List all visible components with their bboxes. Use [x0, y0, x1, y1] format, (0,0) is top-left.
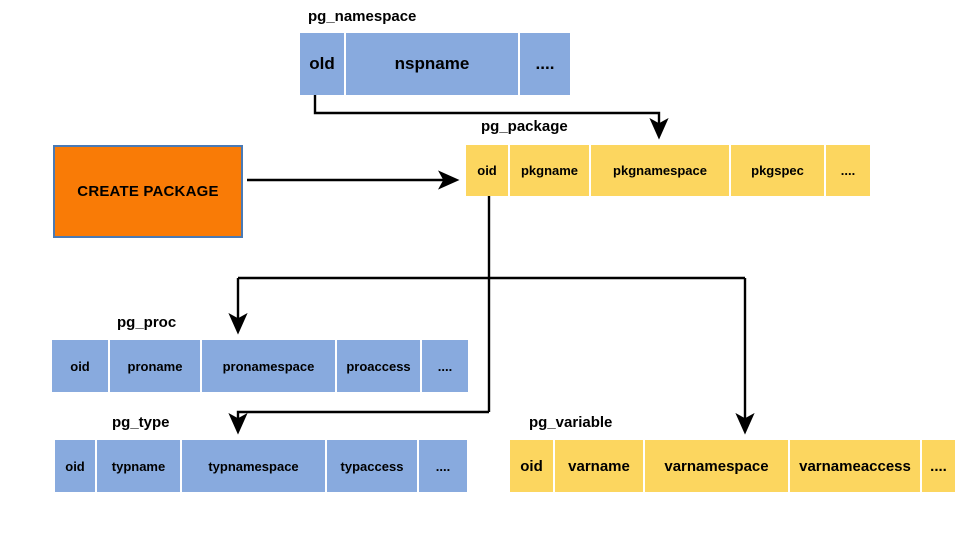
table-label-pg_namespace: pg_namespace	[308, 8, 416, 25]
column-cell-pg_type-dotsdotsdotsdots[interactable]: ....	[419, 440, 467, 492]
column-cell-pg_type-typaccess[interactable]: typaccess	[327, 440, 417, 492]
column-cell-pg_type-typnamespace[interactable]: typnamespace	[182, 440, 325, 492]
table-label-pg_type: pg_type	[112, 414, 170, 431]
column-cell-pg_package-pkgname[interactable]: pkgname	[510, 145, 589, 196]
table-label-pg_variable: pg_variable	[529, 414, 612, 431]
column-cell-pg_package-pkgspec[interactable]: pkgspec	[731, 145, 824, 196]
column-cell-pg_proc-proaccess[interactable]: proaccess	[337, 340, 420, 392]
connector-package-to-type	[238, 412, 489, 431]
column-cell-pg_type-oid[interactable]: oid	[55, 440, 95, 492]
column-cell-pg_namespace-old[interactable]: old	[300, 33, 344, 95]
table-row-pg_type: oidtypnametypnamespacetypaccess....	[55, 440, 467, 492]
diagram-canvas: CREATE PACKAGE pg_namespaceoldnspname...…	[0, 0, 960, 540]
create-package-label: CREATE PACKAGE	[77, 183, 218, 200]
column-cell-pg_package-pkgnamespace[interactable]: pkgnamespace	[591, 145, 729, 196]
column-cell-pg_proc-oid[interactable]: oid	[52, 340, 108, 392]
column-cell-pg_variable-varnameaccess[interactable]: varnameaccess	[790, 440, 920, 492]
table-label-pg_package: pg_package	[481, 118, 568, 135]
table-row-pg_proc: oidpronamepronamespaceproaccess....	[52, 340, 468, 392]
column-cell-pg_proc-proname[interactable]: proname	[110, 340, 200, 392]
column-cell-pg_namespace-dotsdotsdotsdots[interactable]: ....	[520, 33, 570, 95]
column-cell-pg_proc-dotsdotsdotsdots[interactable]: ....	[422, 340, 468, 392]
column-cell-pg_variable-dotsdotsdotsdots[interactable]: ....	[922, 440, 955, 492]
column-cell-pg_variable-varnamespace[interactable]: varnamespace	[645, 440, 788, 492]
table-row-pg_namespace: oldnspname....	[300, 33, 570, 95]
column-cell-pg_type-typname[interactable]: typname	[97, 440, 180, 492]
create-package-node[interactable]: CREATE PACKAGE	[53, 145, 243, 238]
column-cell-pg_package-dotsdotsdotsdots[interactable]: ....	[826, 145, 870, 196]
column-cell-pg_package-oid[interactable]: oid	[466, 145, 508, 196]
column-cell-pg_namespace-nspname[interactable]: nspname	[346, 33, 518, 95]
table-row-pg_package: oidpkgnamepkgnamespacepkgspec....	[466, 145, 870, 196]
table-label-pg_proc: pg_proc	[117, 314, 176, 331]
table-row-pg_variable: oidvarnamevarnamespacevarnameaccess....	[510, 440, 955, 492]
column-cell-pg_variable-varname[interactable]: varname	[555, 440, 643, 492]
column-cell-pg_proc-pronamespace[interactable]: pronamespace	[202, 340, 335, 392]
column-cell-pg_variable-oid[interactable]: oid	[510, 440, 553, 492]
